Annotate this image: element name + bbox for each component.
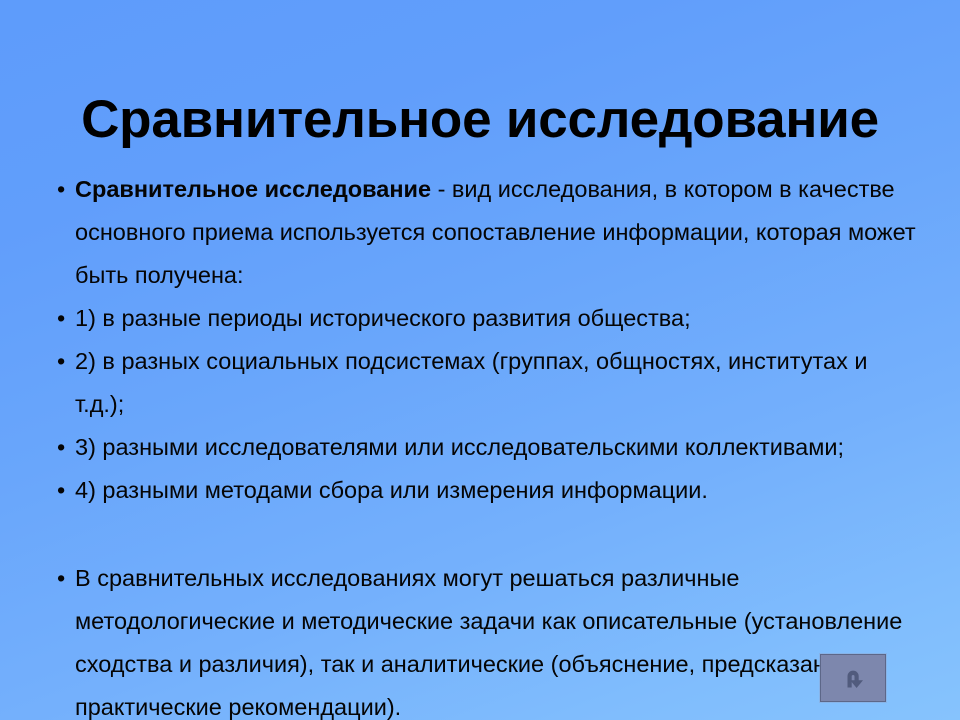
list-item-text: 4) разными методами сбора или измерения … bbox=[75, 469, 916, 512]
bullet-icon: • bbox=[57, 426, 65, 469]
list-item-text: 1) в разные периоды исторического развит… bbox=[75, 297, 916, 340]
list-item: • 3) разными исследователями или исследо… bbox=[50, 426, 916, 469]
bullet-icon: • bbox=[57, 168, 65, 211]
list-item: • Сравнительное исследование - вид иссле… bbox=[50, 168, 916, 297]
list-item: • 2) в разных социальных подсистемах (гр… bbox=[50, 340, 916, 426]
page-title: Сравнительное исследование bbox=[40, 92, 920, 148]
paragraph-spacer bbox=[50, 512, 916, 557]
bullet-icon: • bbox=[57, 469, 65, 512]
list-item: • 1) в разные периоды исторического разв… bbox=[50, 297, 916, 340]
list-item: • В сравнительных исследованиях могут ре… bbox=[50, 557, 916, 720]
slide-body: • Сравнительное исследование - вид иссле… bbox=[50, 168, 916, 720]
slide-canvas: Сравнительное исследование • Сравнительн… bbox=[0, 0, 960, 720]
list-item: • 4) разными методами сбора или измерени… bbox=[50, 469, 916, 512]
list-item-text: Сравнительное исследование - вид исследо… bbox=[75, 168, 916, 297]
return-button[interactable] bbox=[820, 654, 886, 702]
list-item-text: 3) разными исследователями или исследова… bbox=[75, 426, 916, 469]
list-item-text: В сравнительных исследованиях могут реша… bbox=[75, 557, 916, 720]
list-item-text: 2) в разных социальных подсистемах (груп… bbox=[75, 340, 916, 426]
bullet-icon: • bbox=[57, 340, 65, 383]
u-turn-arrow-icon bbox=[838, 663, 868, 693]
bullet-icon: • bbox=[57, 297, 65, 340]
bullet-icon: • bbox=[57, 557, 65, 600]
list-item-lead: Сравнительное исследование bbox=[75, 176, 431, 202]
